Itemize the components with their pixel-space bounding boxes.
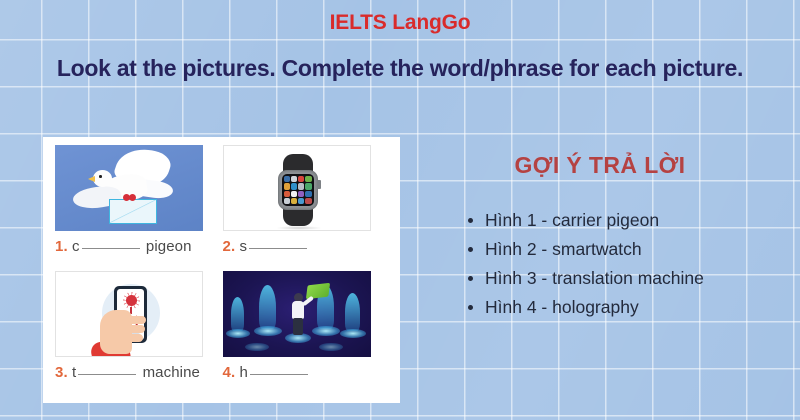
finger-2 [126,325,145,333]
answer-blank-1[interactable] [82,248,140,249]
answers-list: Hình 1 - carrier pigeon Hình 2 - smartwa… [465,206,785,322]
answers-panel-title: GỢI Ý TRẢ LỜI [430,152,770,179]
picture-prefix-2: s [240,238,248,255]
hologram-figure-1 [231,297,244,331]
picture-prefix-3: t [72,364,76,381]
hologram-pad-1 [226,329,250,338]
picture-card: 1. c pigeon 2. s [43,137,400,403]
japan-flag-dot-icon [126,295,137,306]
translation-machine-illustration [55,271,203,357]
watch-case [278,170,318,210]
picture-label-4: 4. h [223,364,391,381]
finger-3 [126,334,143,342]
picture-number-1: 1. [55,238,68,255]
list-item: Hình 4 - holography [465,293,785,322]
picture-prefix-4: h [240,364,248,381]
presenter-torso [292,301,304,319]
picture-suffix-1: pigeon [146,238,192,255]
picture-number-2: 2. [223,238,236,255]
watch-shadow [276,226,322,230]
hologram-figure-2 [259,285,276,329]
envelope-ribbon-icon [123,194,137,203]
hologram-pad-3 [312,326,340,336]
answer-blank-2[interactable] [249,248,307,249]
brand-logo: IELTS LangGo [0,11,800,35]
hologram-figure-4 [345,293,360,331]
page-title: Look at the pictures. Complete the word/… [55,53,745,83]
picture-label-1: 1. c pigeon [55,238,223,255]
picture-prefix-1: c [72,238,80,255]
carrier-pigeon-illustration [55,145,203,231]
holography-illustration [223,271,371,357]
pigeon-eye [99,175,102,178]
picture-number-3: 3. [55,364,68,381]
watch-screen [282,174,314,206]
picture-item-1: 1. c pigeon [55,145,223,271]
picture-label-2: 2. s [223,238,391,255]
list-item: Hình 1 - carrier pigeon [465,206,785,235]
answer-blank-3[interactable] [78,374,136,375]
picture-item-3: 3. t machine [55,271,223,397]
picture-item-2: 2. s [223,145,391,271]
list-item: Hình 3 - translation machine [465,264,785,293]
presenter-legs [293,318,303,335]
list-item: Hình 2 - smartwatch [465,235,785,264]
hologram-pad-5 [245,343,269,351]
hologram-pad-4 [340,329,366,338]
watch-digital-crown [317,180,321,189]
picture-suffix-3: machine [143,364,200,381]
answer-blank-4[interactable] [250,374,308,375]
picture-label-3: 3. t machine [55,364,223,381]
hologram-pad-2 [254,326,282,336]
pigeon-beak [88,176,95,182]
picture-number-4: 4. [223,364,236,381]
smartwatch-photo [223,145,371,231]
finger-1 [126,316,146,324]
hologram-pad-6 [319,343,343,351]
pigeon-head [93,170,112,187]
brand-logo-text: IELTS LangGo [330,11,471,34]
picture-item-4: 4. h [223,271,391,397]
